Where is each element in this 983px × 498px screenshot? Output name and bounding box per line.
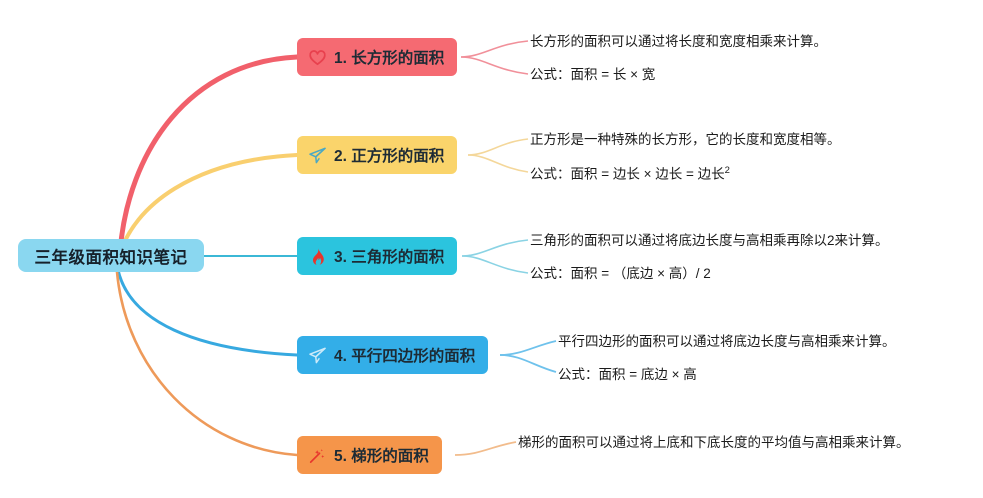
paper-plane-icon [308,146,327,165]
topic-node-rectangle-label: 1. 长方形的面积 [334,46,444,68]
leaf-connector-trapezoid-1 [455,442,516,455]
leaf-connector-parallelogram-2 [500,355,556,372]
detail-block-parallelogram: 平行四边形的面积可以通过将底边长度与高相乘来计算。 公式：面积 = 底边 × 高 [558,335,896,381]
branch-curve-rectangle [120,57,297,252]
branch-curve-parallelogram [118,270,297,355]
leaf-connector-square-1 [468,139,528,155]
heart-icon [308,48,327,67]
topic-node-triangle[interactable]: 3. 三角形的面积 [297,237,457,275]
leaf-connector-parallelogram-1 [500,341,556,355]
detail-block-trapezoid: 梯形的面积可以通过将上底和下底长度的平均值与高相乘来计算。 [518,436,910,450]
detail-line: 三角形的面积可以通过将底边长度与高相乘再除以2来计算。 [530,234,889,248]
magic-wand-icon [308,446,327,465]
detail-line: 长方形的面积可以通过将长度和宽度相乘来计算。 [530,35,827,49]
detail-block-rectangle: 长方形的面积可以通过将长度和宽度相乘来计算。 公式：面积 = 长 × 宽 [530,35,827,81]
topic-node-triangle-label: 3. 三角形的面积 [334,245,444,267]
topic-node-trapezoid-label: 5. 梯形的面积 [334,444,429,466]
topic-node-parallelogram-label: 4. 平行四边形的面积 [334,344,475,366]
root-node-label: 三年级面积知识笔记 [35,244,188,268]
detail-line: 公式：面积 = 底边 × 高 [558,368,896,382]
detail-line: 公式：面积 = 长 × 宽 [530,68,827,82]
leaf-connector-triangle-2 [462,256,528,273]
detail-line: 平行四边形的面积可以通过将底边长度与高相乘来计算。 [558,335,896,349]
detail-line: 梯形的面积可以通过将上底和下底长度的平均值与高相乘来计算。 [518,436,910,450]
branch-curve-trapezoid [117,272,297,455]
detail-line: 公式：面积 = （底边 × 高）/ 2 [530,267,889,281]
flame-icon [308,247,327,266]
detail-line: 公式：面积 = 边长 × 边长 = 边长2 [530,166,841,181]
topic-node-trapezoid[interactable]: 5. 梯形的面积 [297,436,442,474]
leaf-connector-triangle-1 [462,240,528,256]
topic-node-parallelogram[interactable]: 4. 平行四边形的面积 [297,336,488,374]
paper-plane-icon [308,346,327,365]
topic-node-rectangle[interactable]: 1. 长方形的面积 [297,38,457,76]
leaf-connector-rectangle-2 [461,57,528,74]
leaf-connector-square-2 [468,155,528,172]
topic-node-square[interactable]: 2. 正方形的面积 [297,136,457,174]
detail-line: 正方形是一种特殊的长方形，它的长度和宽度相等。 [530,133,841,147]
root-node[interactable]: 三年级面积知识笔记 [18,239,204,272]
detail-block-triangle: 三角形的面积可以通过将底边长度与高相乘再除以2来计算。 公式：面积 = （底边 … [530,234,889,280]
topic-node-square-label: 2. 正方形的面积 [334,144,444,166]
mindmap-canvas: 三年级面积知识笔记 1. 长方形的面积 长方形的面积可以通过将长度和宽度相乘来计… [0,0,983,498]
detail-block-square: 正方形是一种特殊的长方形，它的长度和宽度相等。 公式：面积 = 边长 × 边长 … [530,133,841,181]
leaf-connector-rectangle-1 [461,41,528,57]
